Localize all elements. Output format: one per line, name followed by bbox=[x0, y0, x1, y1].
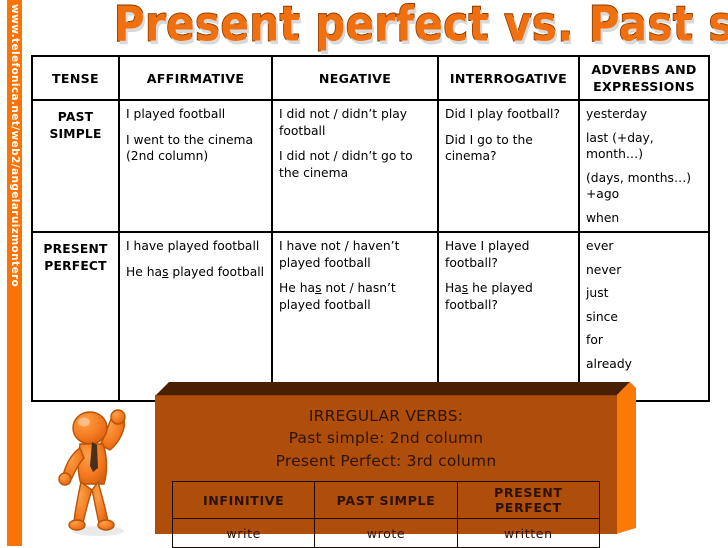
table-header-row: TENSE AFFIRMATIVE NEGATIVE INTERROGATIVE… bbox=[32, 56, 709, 100]
cell-interrogative-past-simple: Did I play football? Did I go to the cin… bbox=[438, 100, 579, 232]
tense-label-line2: SIMPLE bbox=[39, 126, 112, 143]
example-sentence: Did I go to the cinema? bbox=[445, 132, 572, 165]
page-title: Present perfect vs. Past simple bbox=[120, 0, 720, 52]
box-top-bevel bbox=[155, 382, 630, 396]
grammar-comparison-table: TENSE AFFIRMATIVE NEGATIVE INTERROGATIVE… bbox=[31, 55, 710, 402]
cell-interrogative-present-perfect: Have I played football? Has he played fo… bbox=[438, 232, 579, 401]
box-side-bevel bbox=[616, 382, 636, 534]
adverb-item: never bbox=[586, 262, 702, 279]
example-sentence: I played football bbox=[126, 106, 265, 123]
box-face: IRREGULAR VERBS: Past simple: 2nd column… bbox=[155, 395, 617, 534]
column-header-tense: TENSE bbox=[32, 56, 119, 100]
example-sentence: He has played football bbox=[126, 264, 265, 281]
example-sentence: I did not / didn’t go to the cinema bbox=[279, 148, 431, 181]
adverb-item: yesterday bbox=[586, 106, 702, 123]
adverb-item: for bbox=[586, 332, 702, 349]
cell-affirmative-present-perfect: I have played football He has played foo… bbox=[119, 232, 272, 401]
verb-table-header-row: INFINITIVE PAST SIMPLE PRESENT PERFECT bbox=[173, 482, 600, 519]
table-row-present-perfect: PRESENT PERFECT I have played football H… bbox=[32, 232, 709, 401]
sidebar-url-bar: www.telefonica.net/web2/angelaruizmonter… bbox=[7, 0, 22, 546]
tense-label-line1: PRESENT bbox=[39, 241, 112, 258]
heading-line-1: IRREGULAR VERBS: bbox=[155, 405, 617, 427]
example-sentence: He has not / hasn’t played football bbox=[279, 280, 431, 313]
example-sentence: Did I play football? bbox=[445, 106, 572, 123]
example-sentence: I have played football bbox=[126, 238, 265, 255]
adverb-item: since bbox=[586, 309, 702, 326]
cell-negative-past-simple: I did not / didn’t play football I did n… bbox=[272, 100, 438, 232]
adverb-item: already bbox=[586, 356, 702, 373]
example-sentence: I have not / haven’t played football bbox=[279, 238, 431, 271]
verb-cell-present-perfect: written bbox=[457, 519, 599, 548]
adverb-item: when bbox=[586, 210, 702, 227]
adverb-item: just bbox=[586, 285, 702, 302]
example-sentence: Have I played football? bbox=[445, 238, 572, 271]
cell-negative-present-perfect: I have not / haven’t played football He … bbox=[272, 232, 438, 401]
heading-line-3: Present Perfect: 3rd column bbox=[155, 450, 617, 472]
verb-column-header-present-perfect: PRESENT PERFECT bbox=[457, 482, 599, 519]
verb-cell-past-simple: wrote bbox=[315, 519, 457, 548]
verb-table-row: write wrote written bbox=[173, 519, 600, 548]
verb-cell-infinitive: write bbox=[173, 519, 315, 548]
verb-column-header-infinitive: INFINITIVE bbox=[173, 482, 315, 519]
tense-label-line1: PAST bbox=[39, 109, 112, 126]
orange-cartoon-man-icon bbox=[48, 398, 148, 538]
example-sentence: I went to the cinema (2nd column) bbox=[126, 132, 265, 165]
column-header-adverbs-line1: ADVERBS AND bbox=[591, 62, 696, 77]
adverb-item: (days, months…) +ago bbox=[586, 170, 702, 203]
column-header-interrogative: INTERROGATIVE bbox=[438, 56, 579, 100]
cell-adverbs-past-simple: yesterday last (+day, month…) (days, mon… bbox=[579, 100, 709, 232]
cell-affirmative-past-simple: I played football I went to the cinema (… bbox=[119, 100, 272, 232]
irregular-verbs-box: IRREGULAR VERBS: Past simple: 2nd column… bbox=[155, 382, 645, 534]
adverb-item: last (+day, month…) bbox=[586, 130, 702, 163]
tense-label-line2: PERFECT bbox=[39, 258, 112, 275]
column-header-adverbs-line2: EXPRESSIONS bbox=[593, 79, 695, 94]
irregular-verbs-table: INFINITIVE PAST SIMPLE PRESENT PERFECT w… bbox=[172, 481, 600, 548]
example-sentence: I did not / didn’t play football bbox=[279, 106, 431, 139]
verb-column-header-past-simple: PAST SIMPLE bbox=[315, 482, 457, 519]
cell-adverbs-present-perfect: ever never just since for already yet bbox=[579, 232, 709, 401]
irregular-verbs-heading: IRREGULAR VERBS: Past simple: 2nd column… bbox=[155, 395, 617, 472]
heading-line-2: Past simple: 2nd column bbox=[155, 427, 617, 449]
cell-tense-present-perfect: PRESENT PERFECT bbox=[32, 232, 119, 401]
table-row-past-simple: PAST SIMPLE I played football I went to … bbox=[32, 100, 709, 232]
column-header-affirmative: AFFIRMATIVE bbox=[119, 56, 272, 100]
column-header-negative: NEGATIVE bbox=[272, 56, 438, 100]
column-header-adverbs: ADVERBS AND EXPRESSIONS bbox=[579, 56, 709, 100]
sidebar-url-text: www.telefonica.net/web2/angelaruizmonter… bbox=[9, 4, 21, 287]
cell-tense-past-simple: PAST SIMPLE bbox=[32, 100, 119, 232]
example-sentence: Has he played football? bbox=[445, 280, 572, 313]
page-title-text: Present perfect vs. Past simple bbox=[114, 0, 726, 57]
adverb-item: ever bbox=[586, 238, 702, 255]
